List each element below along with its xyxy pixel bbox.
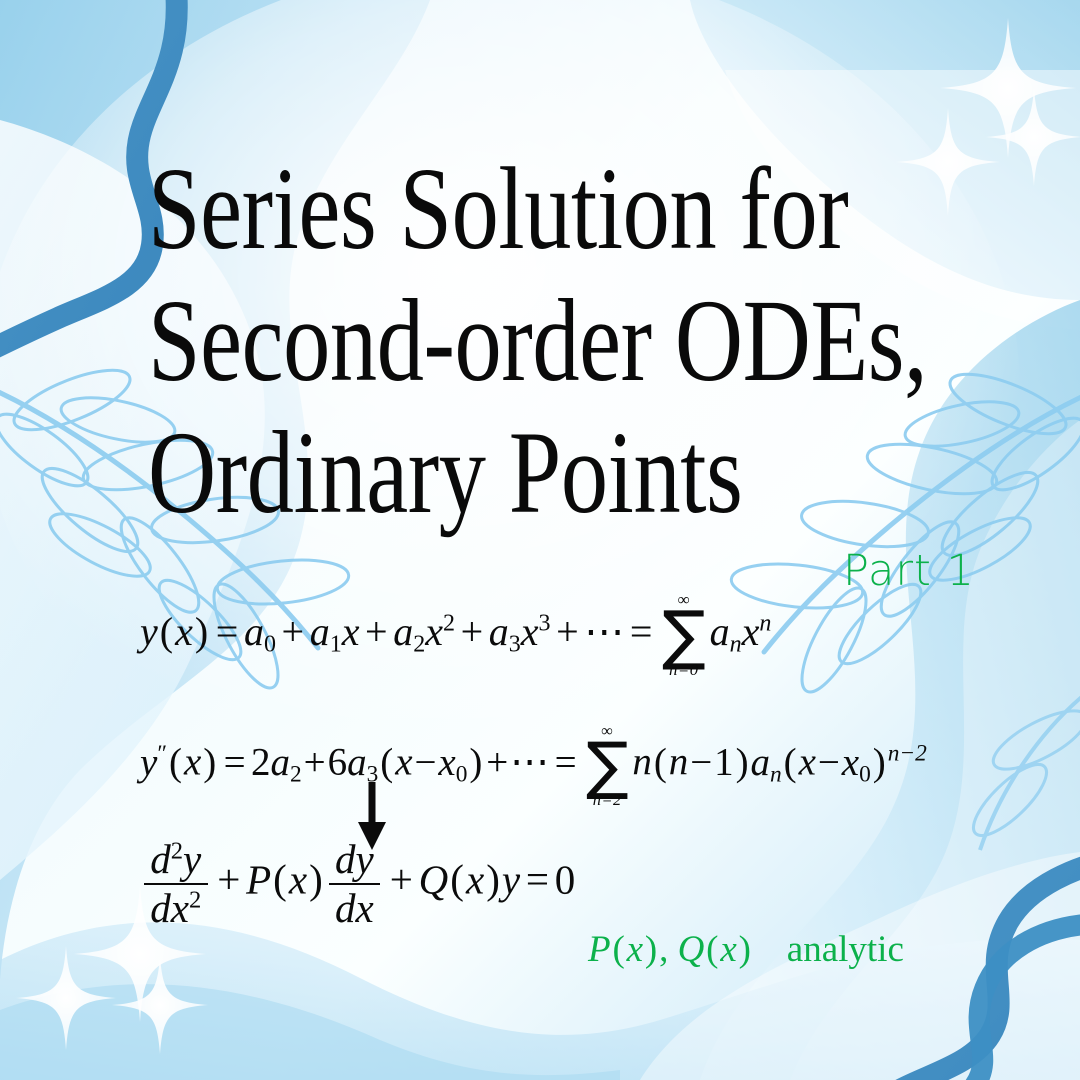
summation-symbol: ∞∑n=0 (662, 592, 706, 679)
fraction-d2y-dx2: d2ydx2 (144, 838, 208, 930)
equation-second-order-ode: d2ydx2+P(x)dydx+Q(x)y=0 (140, 838, 575, 930)
page-title-line-2: Second-order ODEs, (148, 282, 927, 400)
analytic-word: analytic (787, 929, 904, 970)
slide-canvas: Series Solution for Second-order ODEs, O… (0, 0, 1080, 1080)
part-label: Part 1 (843, 546, 975, 596)
fraction-dy-dx: dydx (329, 838, 381, 930)
slide-content: Series Solution for Second-order ODEs, O… (0, 0, 1080, 1080)
page-title-line-3: Ordinary Points (148, 414, 742, 532)
analytic-note: P(x), Q(x)analytic (588, 928, 904, 971)
equation-second-derivative-series: y″(x)=2a2+6a3(x−x0)+⋯=∞∑n=2n(n−1)an(x−x0… (140, 723, 927, 808)
equation-power-series: y(x)=a0+a1x+a2x2+a3x3+⋯=∞∑n=0anxn (140, 592, 771, 679)
summation-symbol: ∞∑n=2 (586, 723, 629, 808)
page-title-line-1: Series Solution for (148, 150, 848, 268)
